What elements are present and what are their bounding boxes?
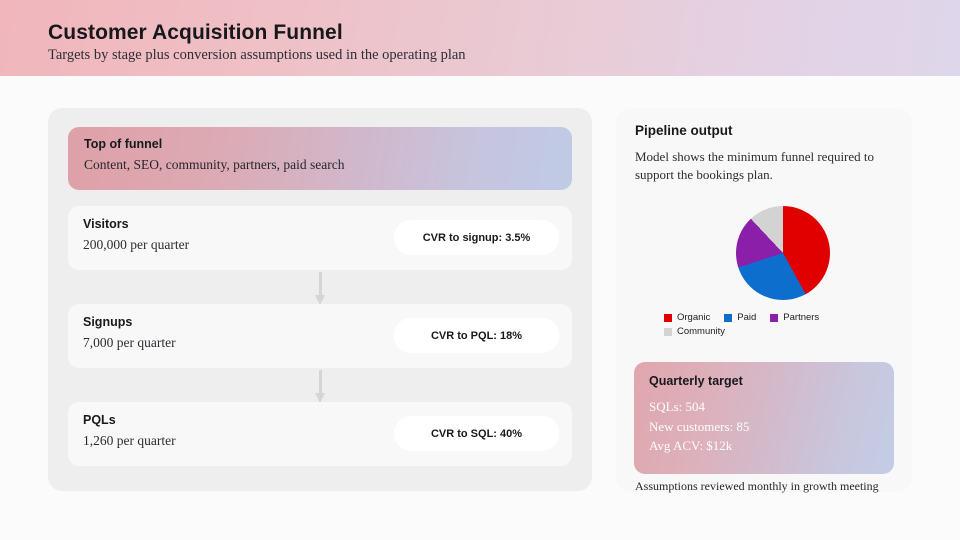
funnel-stage-signups: Signups 7,000 per quarter CVR to PQL: 18… [68, 304, 572, 368]
pie-slices [736, 206, 830, 300]
page-header: Customer Acquisition Funnel Targets by s… [0, 0, 960, 76]
funnel-stage-pqls: PQLs 1,260 per quarter CVR to SQL: 40% [68, 402, 572, 466]
pipeline-description: Model shows the minimum funnel required … [635, 148, 897, 184]
quarterly-target-metrics: SQLs: 504New customers: 85Avg ACV: $12k [649, 397, 749, 456]
funnel-panel: Top of funnel Content, SEO, community, p… [48, 108, 592, 491]
legend-swatch-icon [664, 314, 672, 322]
legend-label: Paid [737, 312, 756, 323]
arrow-down-icon [315, 370, 326, 404]
pipeline-panel: Pipeline output Model shows the minimum … [616, 108, 912, 492]
stage-name: Visitors [83, 217, 129, 231]
legend-item: Paid [724, 312, 756, 323]
legend-item: Organic [664, 312, 710, 323]
quarterly-target-line: New customers: 85 [649, 417, 749, 437]
legend-swatch-icon [724, 314, 732, 322]
legend-swatch-icon [770, 314, 778, 322]
funnel-stage-visitors: Visitors 200,000 per quarter CVR to sign… [68, 206, 572, 270]
legend-label: Community [677, 326, 725, 337]
stage-value: 1,260 per quarter [83, 433, 176, 449]
channel-mix-pie-chart: OrganicPaidPartnersCommunity [635, 200, 893, 352]
pipeline-title: Pipeline output [635, 123, 733, 138]
cvr-badge-pql: CVR to PQL: 18% [394, 318, 559, 353]
stage-value: 200,000 per quarter [83, 237, 189, 253]
legend-label: Organic [677, 312, 710, 323]
top-of-funnel-subtitle: Content, SEO, community, partners, paid … [84, 157, 344, 173]
quarterly-target-card: Quarterly target SQLs: 504New customers:… [634, 362, 894, 474]
top-of-funnel-title: Top of funnel [84, 137, 162, 151]
quarterly-target-title: Quarterly target [649, 374, 743, 388]
quarterly-target-line: Avg ACV: $12k [649, 436, 749, 456]
legend-item: Community [664, 326, 725, 337]
page-title: Customer Acquisition Funnel [48, 21, 343, 45]
legend-label: Partners [783, 312, 819, 323]
legend-swatch-icon [664, 328, 672, 336]
page-subtitle: Targets by stage plus conversion assumpt… [48, 47, 466, 64]
arrow-down-icon [315, 272, 326, 306]
stage-name: Signups [83, 315, 132, 329]
cvr-badge-sql: CVR to SQL: 40% [394, 416, 559, 451]
pipeline-footnote: Assumptions reviewed monthly in growth m… [635, 479, 879, 494]
cvr-badge-signup: CVR to signup: 3.5% [394, 220, 559, 255]
stage-name: PQLs [83, 413, 116, 427]
pie-legend: OrganicPaidPartnersCommunity [664, 312, 894, 340]
legend-item: Partners [770, 312, 819, 323]
top-of-funnel-card: Top of funnel Content, SEO, community, p… [68, 127, 572, 190]
quarterly-target-line: SQLs: 504 [649, 397, 749, 417]
stage-value: 7,000 per quarter [83, 335, 176, 351]
